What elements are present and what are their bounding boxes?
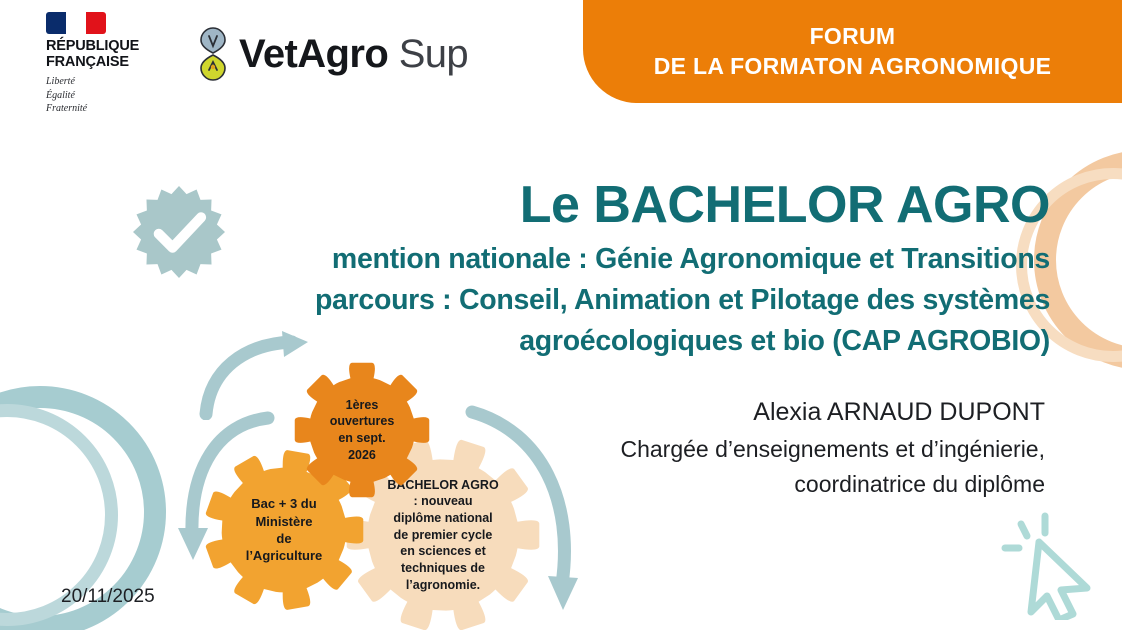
speaker-block: Alexia ARNAUD DUPONT Chargée d’enseignem… <box>520 394 1045 503</box>
republique-francaise-name: RÉPUBLIQUE FRANÇAISE <box>46 39 166 70</box>
subtitle-parcours: parcours : Conseil, Animation et Pilotag… <box>120 280 1050 321</box>
speaker-role-line1: Chargée d’enseignements et d’ingénierie, <box>520 432 1045 468</box>
forum-banner: FORUM DE LA FORMATON AGRONOMIQUE <box>583 0 1122 103</box>
gear-dates: 1ères ouvertures en sept. 2026 <box>294 362 430 498</box>
main-title: Le BACHELOR AGRO <box>120 178 1050 233</box>
motto-liberte: Liberté <box>46 75 166 88</box>
gear-dates-label: 1ères ouvertures en sept. 2026 <box>294 362 430 498</box>
flag-band-blue <box>46 12 66 34</box>
subtitle-agrobio: agroécologiques et bio (CAP AGROBIO) <box>120 321 1050 362</box>
title-block: Le BACHELOR AGRO mention nationale : Gén… <box>120 178 1050 362</box>
speaker-name: Alexia ARNAUD DUPONT <box>520 394 1045 432</box>
vetagro-droplet-icon <box>196 26 230 82</box>
banner-title-line2: DE LA FORMATON AGRONOMIQUE <box>654 54 1052 80</box>
french-flag-icon <box>46 12 106 34</box>
motto-fraternite: Fraternité <box>46 102 166 115</box>
subtitle-mention: mention nationale : Génie Agronomique et… <box>120 239 1050 280</box>
vetagro-sup-wordmark: VetAgro Sup <box>239 34 468 74</box>
republique-francaise-logo: RÉPUBLIQUE FRANÇAISE Liberté Égalité Fra… <box>46 12 166 115</box>
flag-band-white <box>66 12 86 34</box>
sup-word: Sup <box>399 32 468 76</box>
speaker-role-line2: coordinatrice du diplôme <box>520 467 1045 503</box>
rf-name-line2: FRANÇAISE <box>46 55 166 71</box>
mouse-cursor-icon <box>975 500 1095 620</box>
republique-francaise-motto: Liberté Égalité Fraternité <box>46 75 166 115</box>
presentation-slide: FORUM DE LA FORMATON AGRONOMIQUE RÉPUBLI… <box>0 0 1122 630</box>
flag-band-red <box>86 12 106 34</box>
banner-title-line1: FORUM <box>810 24 896 50</box>
rf-name-line1: RÉPUBLIQUE <box>46 39 166 55</box>
vetagro-sup-logo: VetAgro Sup <box>196 26 468 82</box>
vetagro-word: VetAgro <box>239 32 388 76</box>
motto-egalite: Égalité <box>46 89 166 102</box>
slide-date: 20/11/2025 <box>61 586 155 608</box>
